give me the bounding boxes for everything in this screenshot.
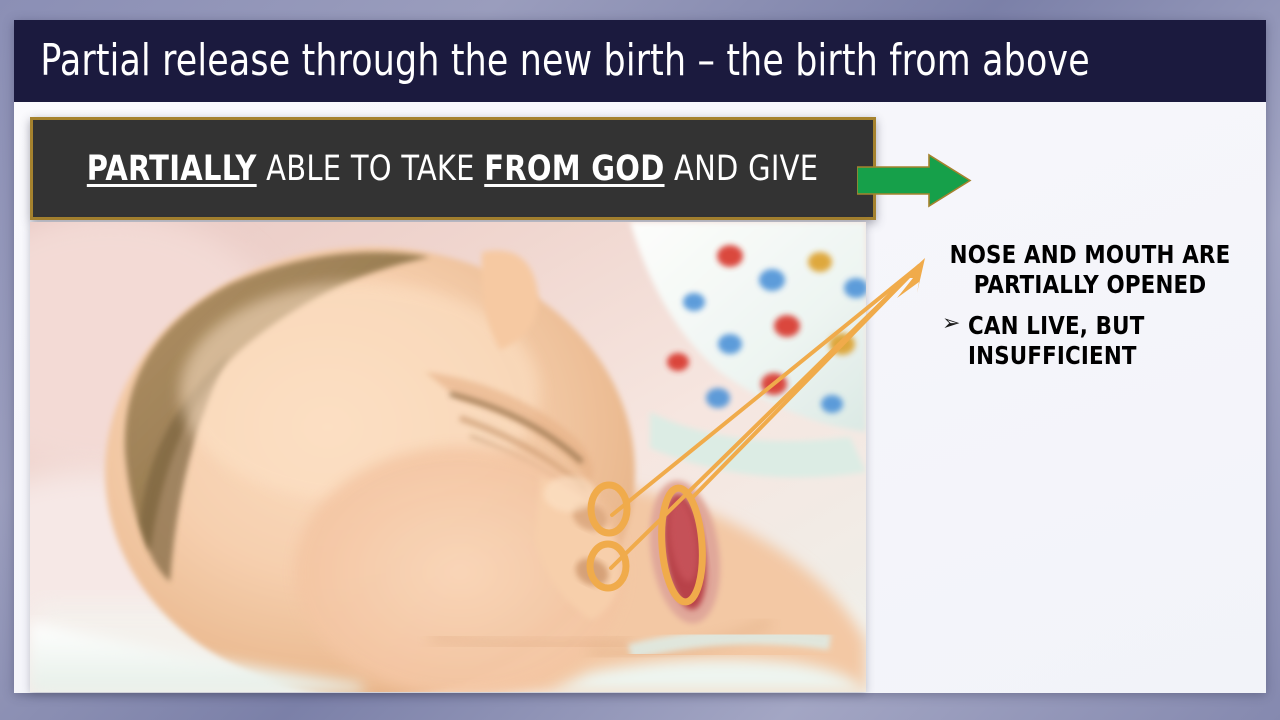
callout-bullet-text: CAN LIVE, BUT INSUFFICIENT xyxy=(968,311,1144,371)
statement-emphasis-from-god: FROM GOD xyxy=(485,149,665,189)
callout-heading-line-2: PARTIALLY OPENED xyxy=(938,270,1242,300)
callout-bullet-line-2: INSUFFICIENT xyxy=(968,341,1137,370)
callout-bullet-line-1: CAN LIVE, BUT xyxy=(968,311,1144,340)
slide-title-bar: Partial release through the new birth – … xyxy=(14,20,1266,102)
baby-photo xyxy=(30,222,866,692)
statement-box: PARTIALLY ABLE TO TAKE FROM GOD AND GIVE xyxy=(30,117,876,220)
callout-block: NOSE AND MOUTH ARE PARTIALLY OPENED ➢ CA… xyxy=(930,240,1250,371)
green-right-arrow-icon xyxy=(857,153,972,208)
statement-emphasis-partially: PARTIALLY xyxy=(87,149,257,189)
statement-plain-1: ABLE TO TAKE xyxy=(257,149,485,189)
statement-plain-2: AND GIVE xyxy=(665,149,819,189)
slide-canvas: Partial release through the new birth – … xyxy=(14,20,1266,693)
arrowhead-bullet-icon: ➢ xyxy=(942,311,968,337)
page-title: Partial release through the new birth – … xyxy=(14,39,1090,83)
statement-text: PARTIALLY ABLE TO TAKE FROM GOD AND GIVE xyxy=(87,149,819,189)
callout-bullet-item: ➢ CAN LIVE, BUT INSUFFICIENT xyxy=(930,311,1250,371)
callout-heading: NOSE AND MOUTH ARE PARTIALLY OPENED xyxy=(938,240,1242,299)
baby-photo-image xyxy=(30,222,866,692)
pointer-arrowhead xyxy=(897,258,925,298)
callout-heading-line-1: NOSE AND MOUTH ARE xyxy=(938,240,1242,270)
